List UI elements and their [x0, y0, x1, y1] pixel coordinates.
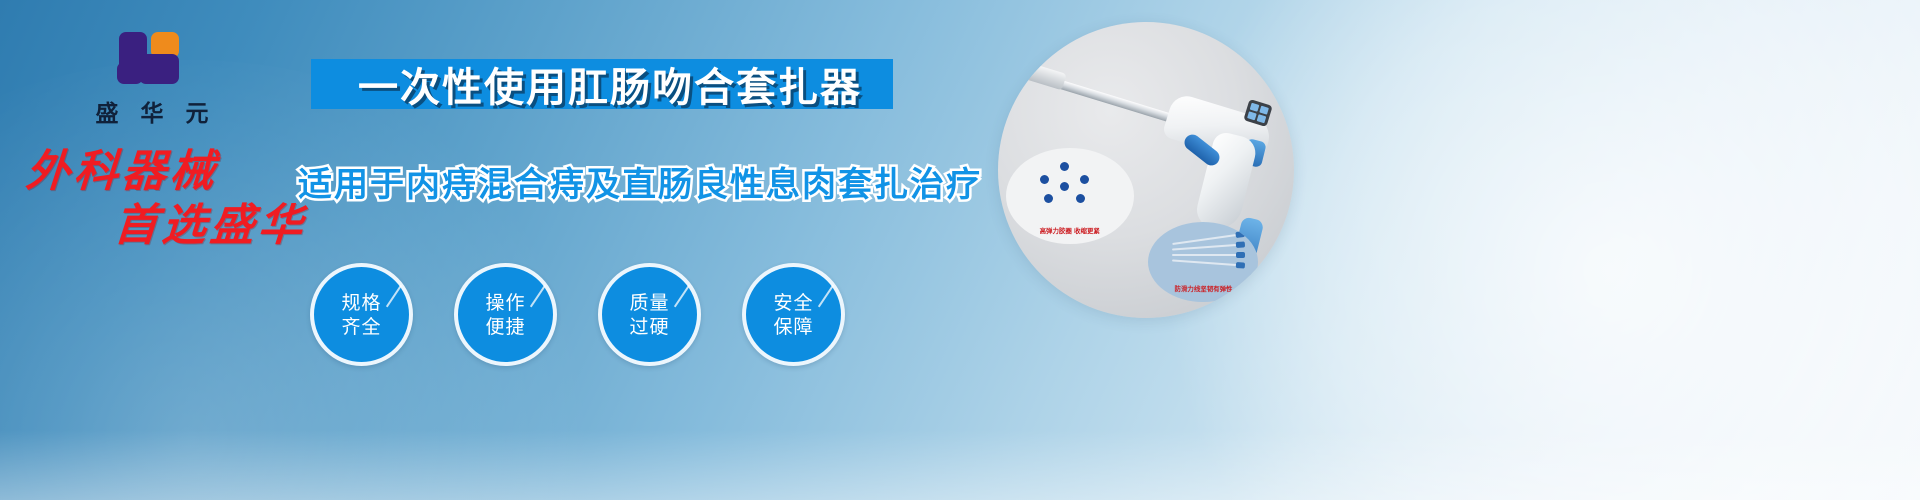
badge-2-line-2: 便捷: [485, 315, 525, 339]
device-key: [1250, 103, 1260, 112]
feature-badge-1[interactable]: 规格 齐全: [310, 263, 413, 366]
slogan-line-2: 首选盛华: [112, 202, 349, 250]
callout-rubber-bands: 高弹力胶圈 收缩更紧: [1006, 148, 1134, 244]
logo-block-right: [139, 54, 179, 84]
page-subtitle: 适用于内痔混合痔及直肠良性息肉套扎治疗: [298, 157, 918, 206]
badge-slash-icon: [386, 285, 402, 308]
badge-slash-icon: [530, 285, 546, 308]
badge-slash-icon: [674, 285, 690, 308]
badge-2-line-1: 操作: [485, 291, 525, 315]
feature-badge-4[interactable]: 安全 保障: [742, 263, 845, 366]
callout-rubber-bands-label: 高弹力胶圈 收缩更紧: [1040, 226, 1100, 235]
badge-3-line-1: 质量: [629, 291, 669, 315]
device-key: [1259, 106, 1269, 115]
badge-4-line-1: 安全: [773, 291, 813, 315]
device-key: [1247, 111, 1257, 120]
badge-1-line-1: 规格: [341, 291, 381, 315]
logo-block-bottom: [117, 62, 143, 84]
feature-badge-list: 规格 齐全 操作 便捷 质量 过硬 安全 保障: [310, 263, 845, 366]
callout-needles-label: 防滑力线坚韧有弹性: [1174, 284, 1232, 293]
product-photo: 高弹力胶圈 收缩更紧 防滑力线坚韧有弹性: [998, 22, 1294, 318]
brand-name: 盛 华 元: [62, 94, 242, 128]
logo-mark-icon: [109, 28, 195, 90]
device-key: [1257, 114, 1267, 123]
promo-banner: 盛 华 元 外科器械 首选盛华 一次性使用肛肠吻合套扎器 适用于内痔混合痔及直肠…: [0, 0, 1920, 500]
badge-1-line-2: 齐全: [341, 315, 381, 339]
page-title: 一次性使用肛肠吻合套扎器: [330, 58, 890, 110]
device-tip: [1024, 62, 1067, 90]
feature-badge-3[interactable]: 质量 过硬: [598, 263, 701, 366]
callout-needles: 防滑力线坚韧有弹性: [1148, 222, 1258, 302]
badge-4-line-2: 保障: [773, 315, 813, 339]
badge-3-line-2: 过硬: [629, 315, 669, 339]
brand-logo[interactable]: 盛 华 元: [62, 28, 242, 128]
badge-slash-icon: [818, 285, 834, 308]
rubber-band-dots-icon: [1032, 162, 1108, 210]
cartridge-icon: [1208, 316, 1288, 318]
bottom-fade: [0, 430, 1920, 500]
feature-badge-2[interactable]: 操作 便捷: [454, 263, 557, 366]
